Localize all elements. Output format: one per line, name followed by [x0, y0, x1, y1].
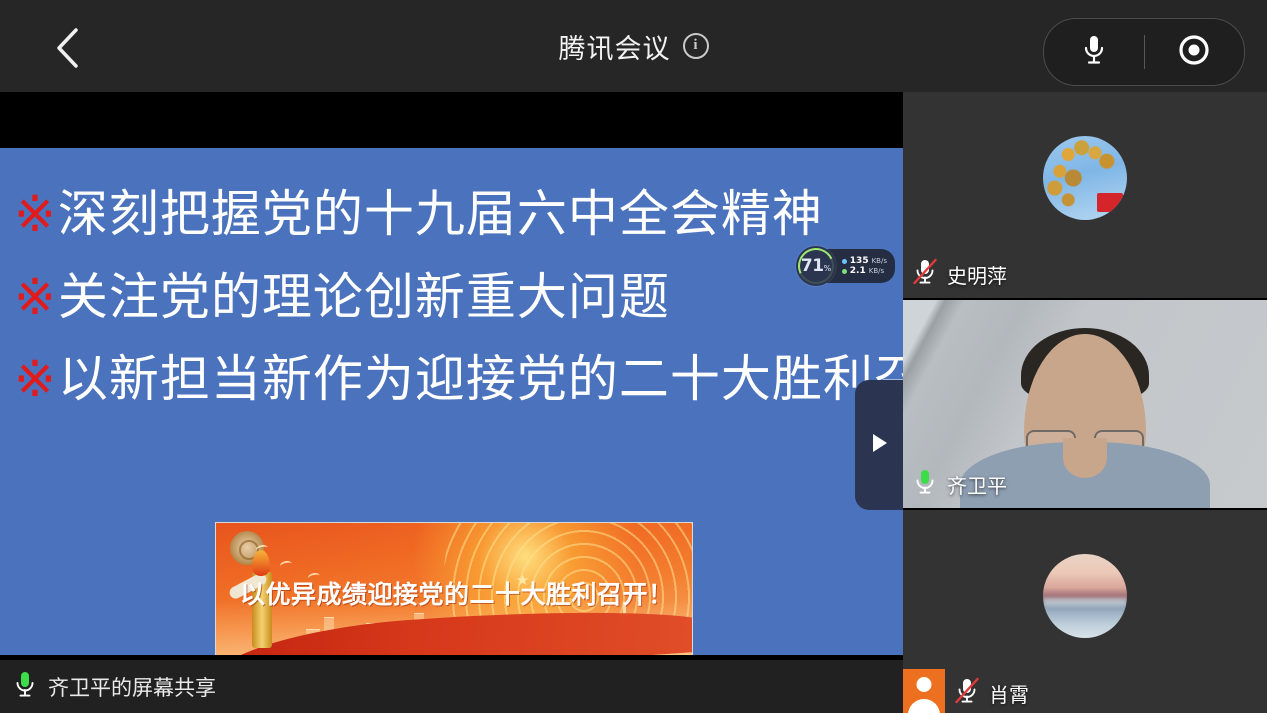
presentation-slide: ※ 深刻把握党的十九届六中全会精神 ※ 关注党的理论创新重大问题 ※ 以新担当新… — [0, 148, 903, 655]
bullet-text: 以新担当新作为迎接党的二十大胜利召开 — [58, 353, 903, 406]
back-button[interactable] — [44, 24, 92, 72]
list-item: ※ 以新担当新作为迎接党的二十大胜利召开 — [14, 353, 903, 406]
next-slide-button[interactable] — [855, 380, 903, 510]
screen-share-label: 齐卫平的屏幕共享 — [48, 672, 216, 702]
network-quality-percent: 71% — [801, 256, 831, 276]
camera-toggle-button[interactable] — [1145, 19, 1245, 85]
download-unit: KB/s — [869, 268, 884, 275]
page-title: 腾讯会议 — [559, 27, 671, 66]
list-item: ※ 关注党的理论创新重大问题 — [14, 271, 903, 324]
slide-banner-image: ★ — [215, 522, 693, 655]
download-arrow-icon — [842, 269, 847, 274]
download-rate-row: 2.1 KB/s — [842, 267, 887, 276]
participant-name-row: 齐卫平 — [913, 468, 1007, 500]
person-placeholder-icon[interactable] — [903, 669, 945, 713]
mic-toggle-button[interactable] — [1044, 19, 1144, 85]
network-stats-widget[interactable]: 71% 135 KB/s 2.1 KB/s — [796, 246, 895, 286]
upload-unit: KB/s — [872, 258, 887, 265]
participant-tile[interactable]: 齐卫平 — [903, 300, 1267, 508]
participant-sidebar[interactable]: 史明萍 — [903, 92, 1267, 713]
camera-record-icon — [1177, 33, 1211, 71]
bullet-text: 关注党的理论创新重大问题 — [58, 271, 670, 324]
bullet-mark-icon: ※ — [14, 272, 56, 322]
upload-rate-row: 135 KB/s — [842, 257, 887, 266]
play-triangle-icon — [869, 431, 889, 459]
network-quality-ring: 71% — [796, 246, 836, 286]
info-circle-icon[interactable]: i — [683, 33, 709, 59]
screen-share-status-bar: 齐卫平的屏幕共享 — [0, 660, 917, 713]
avatar — [1043, 554, 1127, 638]
upload-arrow-icon — [842, 259, 847, 264]
download-value: 2.1 — [850, 267, 866, 276]
participant-tile[interactable]: 肖霄 — [903, 510, 1267, 713]
shared-screen-area[interactable]: ※ 深刻把握党的十九届六中全会精神 ※ 关注党的理论创新重大问题 ※ 以新担当新… — [0, 92, 903, 656]
participant-name-row: 肖霄 — [955, 677, 1029, 709]
participant-name: 肖霄 — [989, 679, 1029, 708]
participant-name: 齐卫平 — [947, 470, 1007, 499]
participant-name-row: 史明萍 — [913, 258, 1007, 290]
av-controls-pill — [1043, 18, 1245, 86]
list-item: ※ 深刻把握党的十九届六中全会精神 — [14, 188, 903, 241]
back-chevron-icon — [53, 26, 83, 70]
upload-value: 135 — [850, 257, 869, 266]
avatar — [1043, 136, 1127, 220]
tencent-meeting-window: 腾讯会议 i — [0, 0, 1267, 713]
microphone-on-icon — [14, 670, 36, 704]
microphone-muted-icon — [913, 258, 937, 290]
top-bar: 腾讯会议 i — [0, 0, 1267, 93]
microphone-on-icon — [913, 468, 937, 500]
participant-tile[interactable]: 史明萍 — [903, 92, 1267, 298]
bullet-mark-icon: ※ — [14, 189, 56, 239]
bullet-text: 深刻把握党的十九届六中全会精神 — [58, 188, 823, 241]
participant-name: 史明萍 — [947, 260, 1007, 289]
bullet-mark-icon: ※ — [14, 354, 56, 404]
microphone-muted-icon — [955, 677, 979, 709]
banner-headline: 以优异成绩迎接党的二十大胜利召开！ — [240, 575, 670, 611]
microphone-icon — [1081, 33, 1107, 71]
slide-bullet-list: ※ 深刻把握党的十九届六中全会精神 ※ 关注党的理论创新重大问题 ※ 以新担当新… — [14, 188, 903, 436]
